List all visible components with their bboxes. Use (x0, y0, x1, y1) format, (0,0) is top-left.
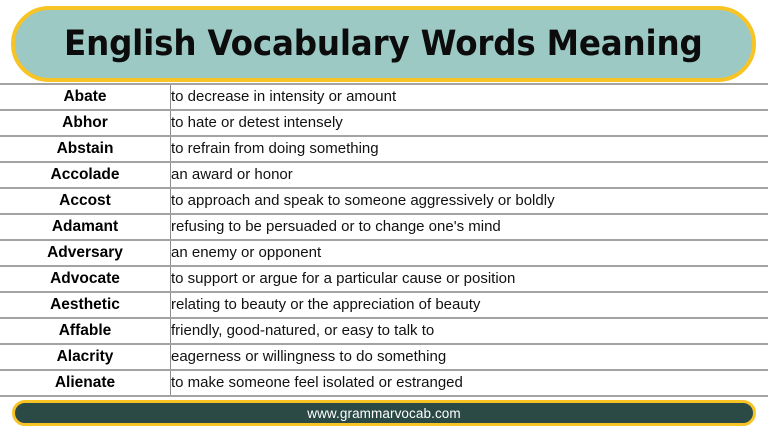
footer-banner: www.grammarvocab.com (12, 400, 756, 426)
vocabulary-word: Adversary (0, 240, 171, 266)
vocabulary-word: Abstain (0, 136, 171, 162)
table-row: Adamantrefusing to be persuaded or to ch… (0, 214, 768, 240)
vocabulary-meaning: friendly, good-natured, or easy to talk … (171, 318, 768, 344)
vocabulary-word: Aesthetic (0, 292, 171, 318)
vocabulary-table: Abateto decrease in intensity or amountA… (0, 83, 768, 397)
table-row: Abstainto refrain from doing something (0, 136, 768, 162)
vocabulary-meaning: to hate or detest intensely (171, 110, 768, 136)
table-row: Accostto approach and speak to someone a… (0, 188, 768, 214)
vocabulary-word: Alacrity (0, 344, 171, 370)
vocabulary-meaning: to support or argue for a particular cau… (171, 266, 768, 292)
website-url: www.grammarvocab.com (307, 406, 461, 421)
vocabulary-word: Affable (0, 318, 171, 344)
table-row: Alienateto make someone feel isolated or… (0, 370, 768, 396)
vocabulary-meaning: eagerness or willingness to do something (171, 344, 768, 370)
vocabulary-word: Accolade (0, 162, 171, 188)
vocabulary-table-body: Abateto decrease in intensity or amountA… (0, 84, 768, 396)
table-row: Abateto decrease in intensity or amount (0, 84, 768, 110)
vocabulary-meaning: to approach and speak to someone aggress… (171, 188, 768, 214)
vocabulary-meaning: relating to beauty or the appreciation o… (171, 292, 768, 318)
vocabulary-word: Advocate (0, 266, 171, 292)
table-row: Abhorto hate or detest intensely (0, 110, 768, 136)
vocabulary-word: Alienate (0, 370, 171, 396)
table-row: Affablefriendly, good-natured, or easy t… (0, 318, 768, 344)
page-title: English Vocabulary Words Meaning (64, 27, 703, 62)
table-row: Accoladean award or honor (0, 162, 768, 188)
vocabulary-meaning: refusing to be persuaded or to change on… (171, 214, 768, 240)
table-row: Aestheticrelating to beauty or the appre… (0, 292, 768, 318)
vocabulary-word: Abate (0, 84, 171, 110)
table-row: Advocateto support or argue for a partic… (0, 266, 768, 292)
table-row: Adversaryan enemy or opponent (0, 240, 768, 266)
vocabulary-meaning: an enemy or opponent (171, 240, 768, 266)
vocabulary-meaning: an award or honor (171, 162, 768, 188)
table-row: Alacrityeagerness or willingness to do s… (0, 344, 768, 370)
vocabulary-meaning: to make someone feel isolated or estrang… (171, 370, 768, 396)
vocabulary-word: Accost (0, 188, 171, 214)
vocabulary-infographic: English Vocabulary Words Meaning Abateto… (0, 0, 768, 432)
vocabulary-meaning: to decrease in intensity or amount (171, 84, 768, 110)
header-banner: English Vocabulary Words Meaning (11, 6, 756, 82)
vocabulary-word: Adamant (0, 214, 171, 240)
vocabulary-meaning: to refrain from doing something (171, 136, 768, 162)
vocabulary-word: Abhor (0, 110, 171, 136)
